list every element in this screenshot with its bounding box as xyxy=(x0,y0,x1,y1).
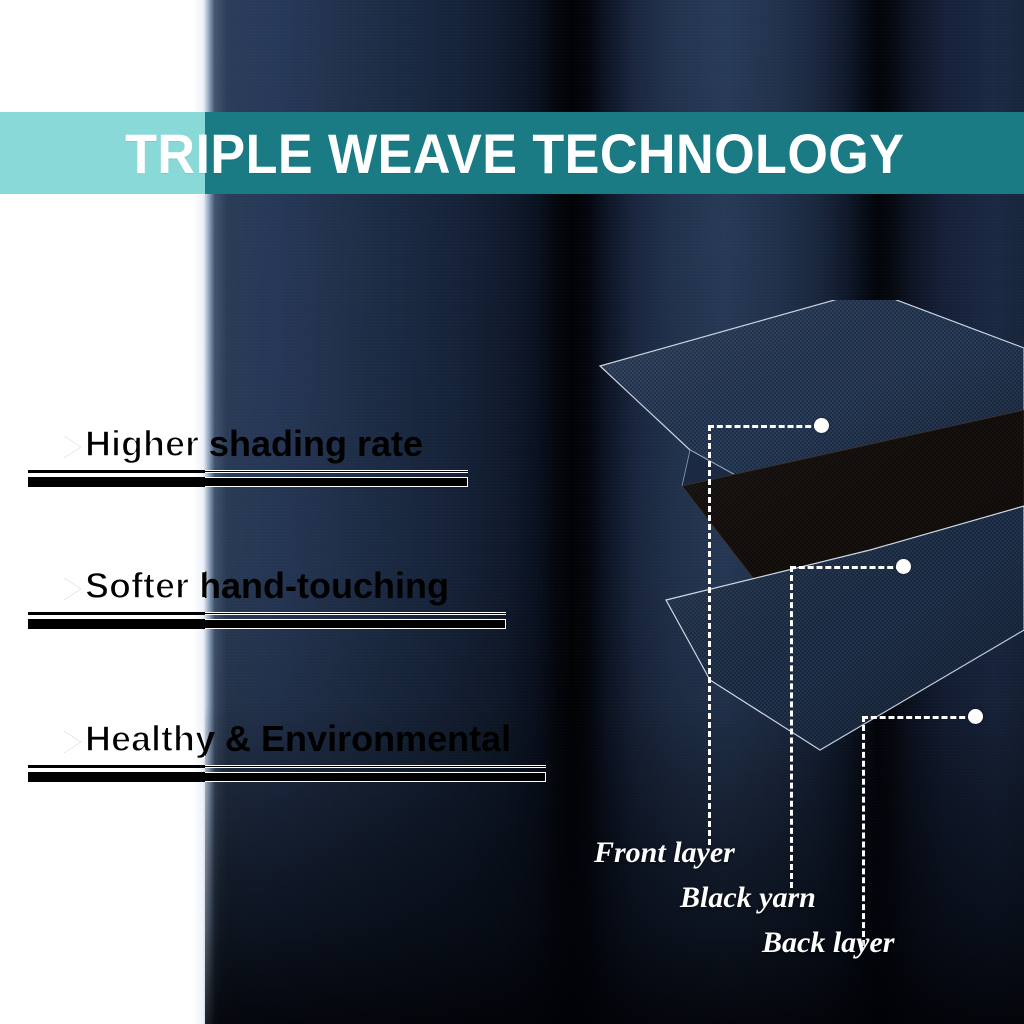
feature-2-underline xyxy=(28,612,506,632)
callout-back-horizontal xyxy=(862,716,974,719)
callout-front-horizontal xyxy=(708,425,820,428)
callout-front-dot xyxy=(814,418,829,433)
header-banner: TRIPLE WEAVE TECHNOLOGY xyxy=(0,112,1024,194)
feature-2-line: Softer hand-touching Softer hand-touchin… xyxy=(64,560,584,612)
triangle-right-icon xyxy=(64,436,81,458)
feature-1-rule-outline xyxy=(205,470,468,490)
feature-2-label: Softer hand-touching xyxy=(85,560,449,612)
callout-yarn-horizontal xyxy=(790,566,902,569)
feature-3-label: Healthy & Environmental xyxy=(85,713,511,765)
callout-front-vertical xyxy=(708,425,711,845)
label-back-layer: Back layer xyxy=(762,926,894,960)
feature-1-underline xyxy=(28,470,468,490)
infographic-canvas: TRIPLE WEAVE TECHNOLOGY Higher shading r… xyxy=(0,0,1024,1024)
feature-2-rule-thick-outline xyxy=(205,619,506,629)
layer-diagram-svg xyxy=(570,300,1024,860)
feature-3-rule-thin-outline xyxy=(205,765,546,768)
feature-1-rule-thick-outline xyxy=(205,477,468,487)
feature-item-3: Healthy & Environmental Healthy & Enviro… xyxy=(64,713,584,765)
feature-3-underline xyxy=(28,765,546,785)
callout-yarn-vertical xyxy=(790,566,793,888)
triangle-right-icon xyxy=(64,578,81,600)
feature-item-1: Higher shading rate Higher shading rate xyxy=(64,418,584,470)
feature-item-2: Softer hand-touching Softer hand-touchin… xyxy=(64,560,584,612)
feature-3-rule-outline xyxy=(205,765,546,785)
triple-weave-layer-diagram xyxy=(570,300,1024,860)
banner-title: TRIPLE WEAVE TECHNOLOGY xyxy=(36,121,988,186)
feature-2-rule-outline xyxy=(205,612,506,632)
feature-3-line: Healthy & Environmental Healthy & Enviro… xyxy=(64,713,584,765)
feature-2-rule-thin-outline xyxy=(205,612,506,615)
feature-1-rule-thin-outline xyxy=(205,470,468,473)
feature-3-rule-thick-outline xyxy=(205,772,546,782)
label-front-layer: Front layer xyxy=(594,836,735,870)
triangle-right-icon xyxy=(64,731,81,753)
feature-1-line: Higher shading rate Higher shading rate xyxy=(64,418,584,470)
callout-back-vertical xyxy=(862,716,865,946)
callout-yarn-dot xyxy=(896,559,911,574)
feature-1-label: Higher shading rate xyxy=(85,418,423,470)
label-black-yarn: Black yarn xyxy=(680,881,816,915)
callout-back-dot xyxy=(968,709,983,724)
